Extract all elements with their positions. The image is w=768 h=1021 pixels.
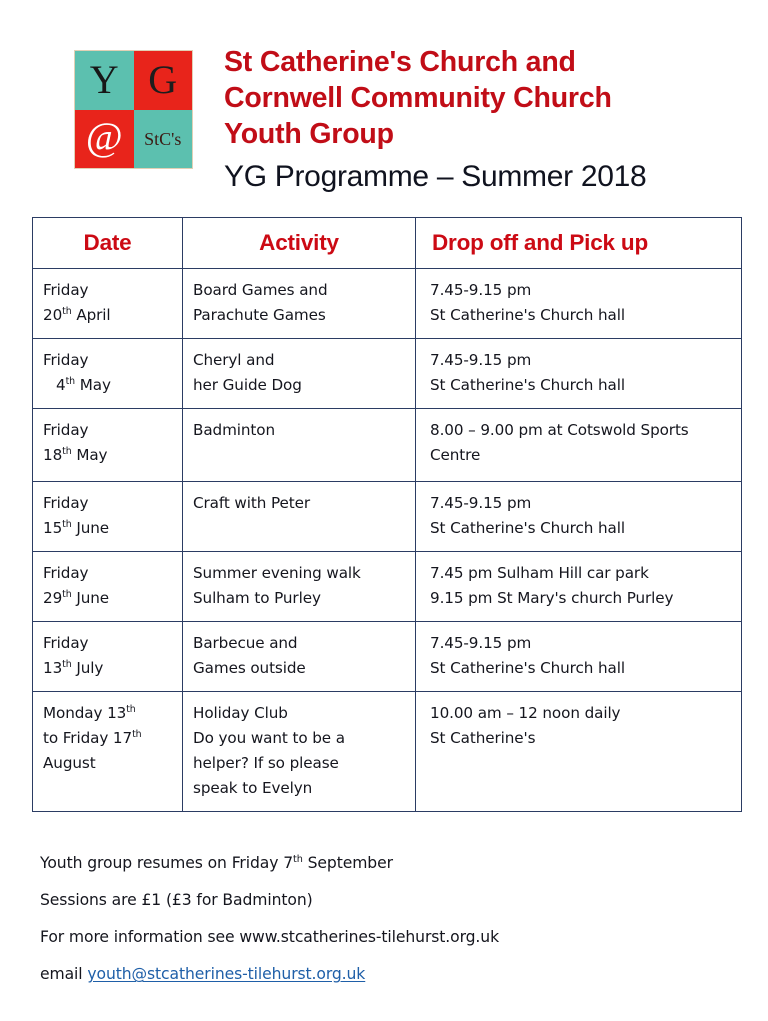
cell-activity: Badminton [183, 409, 415, 453]
cell-dropoff: 7.45-9.15 pmSt Catherine's Church hall [416, 482, 741, 551]
table-row: Friday4th May Cheryl andher Guide Dog 7.… [33, 339, 742, 409]
table-row: Friday20th April Board Games andParachut… [33, 269, 742, 339]
table-row: Monday 13thto Friday 17thAugust Holiday … [33, 692, 742, 812]
footer-website-note: For more information see www.stcatherine… [40, 919, 730, 956]
cell-dropoff: 7.45-9.15 pmSt Catherine's Church hall [416, 269, 741, 338]
cell-activity: Holiday ClubDo you want to be ahelper? I… [183, 692, 415, 811]
cell-date: Friday20th April [33, 269, 182, 338]
cell-date: Friday15th June [33, 482, 182, 551]
page-header: Y G @ StC's St Catherine's Church and Co… [0, 0, 768, 205]
footer-email-note: email youth@stcatherines-tilehurst.org.u… [40, 956, 730, 993]
cell-activity: Cheryl andher Guide Dog [183, 339, 415, 408]
footer-price-note: Sessions are £1 (£3 for Badminton) [40, 882, 730, 919]
programme-table: Date Activity Drop off and Pick up Frida… [32, 217, 742, 812]
cell-date: Friday29th June [33, 552, 182, 621]
cell-activity: Board Games andParachute Games [183, 269, 415, 338]
cell-dropoff: 7.45-9.15 pmSt Catherine's Church hall [416, 622, 741, 691]
page-title-line-1: St Catherine's Church and [224, 44, 754, 80]
cell-activity: Barbecue andGames outside [183, 622, 415, 691]
table-header-row: Date Activity Drop off and Pick up [33, 218, 742, 269]
table-row: Friday15th June Craft with Peter 7.45-9.… [33, 482, 742, 552]
column-header-dropoff: Drop off and Pick up [416, 218, 742, 269]
cell-dropoff: 7.45 pm Sulham Hill car park9.15 pm St M… [416, 552, 741, 621]
youth-group-logo: Y G @ StC's [75, 51, 192, 168]
cell-dropoff: 10.00 am – 12 noon dailySt Catherine's [416, 692, 741, 761]
footer-resume-note: Youth group resumes on Friday 7th Septem… [40, 845, 730, 882]
column-header-activity: Activity [183, 218, 416, 269]
cell-activity: Summer evening walkSulham to Purley [183, 552, 415, 621]
cell-date: Friday4th May [33, 339, 182, 408]
cell-date: Monday 13thto Friday 17thAugust [33, 692, 182, 786]
email-link[interactable]: youth@stcatherines-tilehurst.org.uk [87, 965, 365, 983]
cell-dropoff: 7.45-9.15 pmSt Catherine's Church hall [416, 339, 741, 408]
table-row: Friday29th June Summer evening walkSulha… [33, 552, 742, 622]
table-row: Friday13th July Barbecue andGames outsid… [33, 622, 742, 692]
page-subtitle: YG Programme – Summer 2018 [224, 157, 754, 197]
page-title-line-3: Youth Group [224, 116, 754, 152]
table-row: Friday18th May Badminton 8.00 – 9.00 pm … [33, 409, 742, 482]
logo-cell-stcs: StC's [134, 110, 193, 169]
page-title-line-2: Cornwell Community Church [224, 80, 754, 116]
table-body: Friday20th April Board Games andParachut… [33, 269, 742, 812]
footer-email-prefix: email [40, 965, 87, 983]
footer-notes: Youth group resumes on Friday 7th Septem… [40, 845, 730, 993]
logo-cell-y: Y [75, 51, 134, 110]
cell-activity: Craft with Peter [183, 482, 415, 526]
title-block: St Catherine's Church and Cornwell Commu… [224, 44, 754, 197]
cell-date: Friday18th May [33, 409, 182, 478]
logo-cell-g: G [134, 51, 193, 110]
cell-date: Friday13th July [33, 622, 182, 691]
cell-dropoff: 8.00 – 9.00 pm at Cotswold SportsCentre [416, 409, 741, 478]
column-header-date: Date [33, 218, 183, 269]
logo-cell-at: @ [75, 110, 134, 169]
